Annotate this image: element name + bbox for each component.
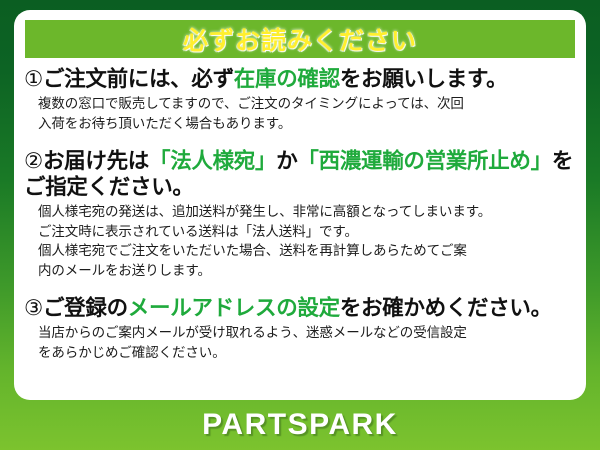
notice-item-2: ②お届け先は「法人様宛」か「西濃運輸の営業所止め」をご指定ください。 個人様宅宛…	[24, 148, 578, 281]
notice-item-3-heading: ③ご登録のメールアドレスの設定をお確かめください。	[24, 295, 578, 321]
header-title: 必ずお読みください	[183, 21, 417, 57]
brand-footer: PARTSPARK	[0, 400, 600, 450]
brand-name: PARTSPARK	[202, 408, 398, 442]
notice-banner: 必ずお読みください ①ご注文前には、必ず在庫の確認をお願いします。 複数の窓口で…	[0, 0, 600, 450]
notice-item-1-heading-post: をお願いします。	[340, 67, 507, 91]
notice-item-2-heading-mid: か	[276, 149, 297, 173]
notice-item-3: ③ご登録のメールアドレスの設定をお確かめください。 当店からのご案内メールが受け…	[24, 295, 578, 363]
notice-item-1-heading: ①ご注文前には、必ず在庫の確認をお願いします。	[24, 66, 578, 92]
notice-item-2-number: ②	[24, 149, 43, 173]
notice-item-2-heading: ②お届け先は「法人様宛」か「西濃運輸の営業所止め」をご指定ください。	[24, 148, 578, 200]
notice-item-3-heading-post: をお確かめください。	[340, 296, 552, 320]
notice-item-1-heading-highlight: 在庫の確認	[234, 67, 340, 91]
notice-item-2-heading-highlight-2: 「西濃運輸の営業所止め」	[297, 149, 551, 173]
notice-item-1-description: 複数の窓口で販売してますので、ご注文のタイミングによっては、次回 入荷をお待ち頂…	[38, 94, 578, 133]
notice-item-1-number: ①	[24, 67, 43, 91]
header-bar: 必ずお読みください	[25, 20, 575, 58]
notice-item-3-heading-pre: ご登録の	[43, 296, 128, 320]
notice-item-2-heading-highlight: 「法人様宛」	[149, 149, 276, 173]
notice-item-2-description: 個人様宅宛の発送は、追加送料が発生し、非常に高額となってしまいます。 ご注文時に…	[38, 202, 578, 281]
notice-list: ①ご注文前には、必ず在庫の確認をお願いします。 複数の窓口で販売してますので、ご…	[14, 66, 586, 367]
notice-item-3-heading-highlight: メールアドレスの設定	[128, 296, 340, 320]
notice-item-3-number: ③	[24, 296, 43, 320]
notice-item-2-heading-pre: お届け先は	[43, 149, 149, 173]
notice-item-3-description: 当店からのご案内メールが受け取れるよう、迷惑メールなどの受信設定 をあらかじめご…	[38, 323, 578, 362]
notice-item-1: ①ご注文前には、必ず在庫の確認をお願いします。 複数の窓口で販売してますので、ご…	[24, 66, 578, 134]
notice-panel: 必ずお読みください ①ご注文前には、必ず在庫の確認をお願いします。 複数の窓口で…	[14, 10, 586, 400]
notice-item-1-heading-pre: ご注文前には、必ず	[43, 67, 234, 91]
